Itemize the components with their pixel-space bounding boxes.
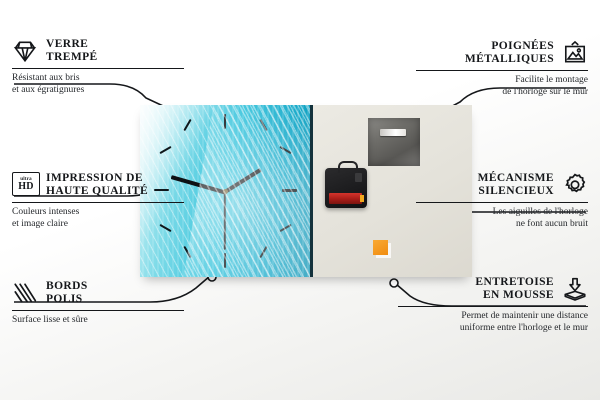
hands-hub [223,189,228,194]
feature-desc-line1: Résistant aux bris [12,73,184,85]
picture-hanger-icon [562,40,588,66]
feature-heading: BORDS POLIS [12,280,184,306]
feature-poignees-metalliques: POIGNÉES MÉTALLIQUES Facilite le montage… [416,40,588,98]
feature-desc-line1: Permet de maintenir une distance [398,311,588,323]
feature-title: POIGNÉES MÉTALLIQUES [465,40,554,66]
foam-spacer-icon [562,276,588,302]
second-hand [224,192,226,250]
feature-desc-line2: et aux égratignures [12,85,184,97]
ultra-hd-icon: ultra HD [12,172,38,198]
divider [416,70,588,71]
polished-edges-icon [12,280,38,306]
divider [12,310,184,311]
divider [398,306,588,307]
feature-desc-line1: Facilite le montage [416,75,588,87]
feature-verre-trempe: VERRE TREMPÉ Résistant aux bris et aux é… [12,38,184,96]
foam-spacer [373,240,388,255]
divider [12,68,184,69]
tick-2 [279,146,291,154]
feature-desc-line2: et image claire [12,219,184,231]
feature-desc-line1: Surface lisse et sûre [12,315,184,327]
feature-mecanisme-silencieux: MÉCANISME SILENCIEUX Les aiguilles de l'… [416,172,588,230]
feature-impression-haute-qualite: ultra HD IMPRESSION DE HAUTE QUALITÉ Cou… [12,172,184,230]
infographic-stage: VERRE TREMPÉ Résistant aux bris et aux é… [0,0,600,400]
movement-hook [338,161,358,173]
clock-movement [325,168,367,208]
hd-label: HD [18,182,34,192]
tick-3 [282,189,297,192]
feature-title: VERRE TREMPÉ [46,38,98,64]
feature-desc-line1: Couleurs intenses [12,207,184,219]
battery-terminal [360,195,364,202]
movement-notch [355,173,362,182]
diamond-icon [12,38,38,64]
feature-bords-polis: BORDS POLIS Surface lisse et sûre [12,280,184,327]
feature-title: IMPRESSION DE HAUTE QUALITÉ [46,172,148,198]
feature-heading: POIGNÉES MÉTALLIQUES [416,40,588,66]
feature-title: BORDS POLIS [46,280,88,306]
feature-heading: ENTRETOISE EN MOUSSE [398,276,588,302]
feature-desc-line1: Les aiguilles de l'horloge [416,207,588,219]
feature-desc-line2: ne font aucun bruit [416,219,588,231]
divider [416,202,588,203]
tick-5 [259,246,267,258]
gear-icon [562,172,588,198]
hour-hand [224,168,262,194]
tick-1 [259,119,267,131]
battery [329,193,362,204]
feature-entretoise-en-mousse: ENTRETOISE EN MOUSSE Permet de maintenir… [398,276,588,334]
feature-heading: ultra HD IMPRESSION DE HAUTE QUALITÉ [12,172,184,198]
tick-4 [279,224,291,232]
feature-heading: MÉCANISME SILENCIEUX [416,172,588,198]
feature-title: MÉCANISME SILENCIEUX [478,172,554,198]
metal-hanger-plate [368,118,420,166]
feature-heading: VERRE TREMPÉ [12,38,184,64]
hanger-slot [380,129,406,136]
feature-desc-line2: uniforme entre l'horloge et le mur [398,323,588,335]
divider [12,202,184,203]
tick-6 [224,253,226,268]
feature-title: ENTRETOISE EN MOUSSE [475,276,554,302]
tick-12 [224,114,226,129]
feature-desc-line2: de l'horloge sur le mur [416,87,588,99]
